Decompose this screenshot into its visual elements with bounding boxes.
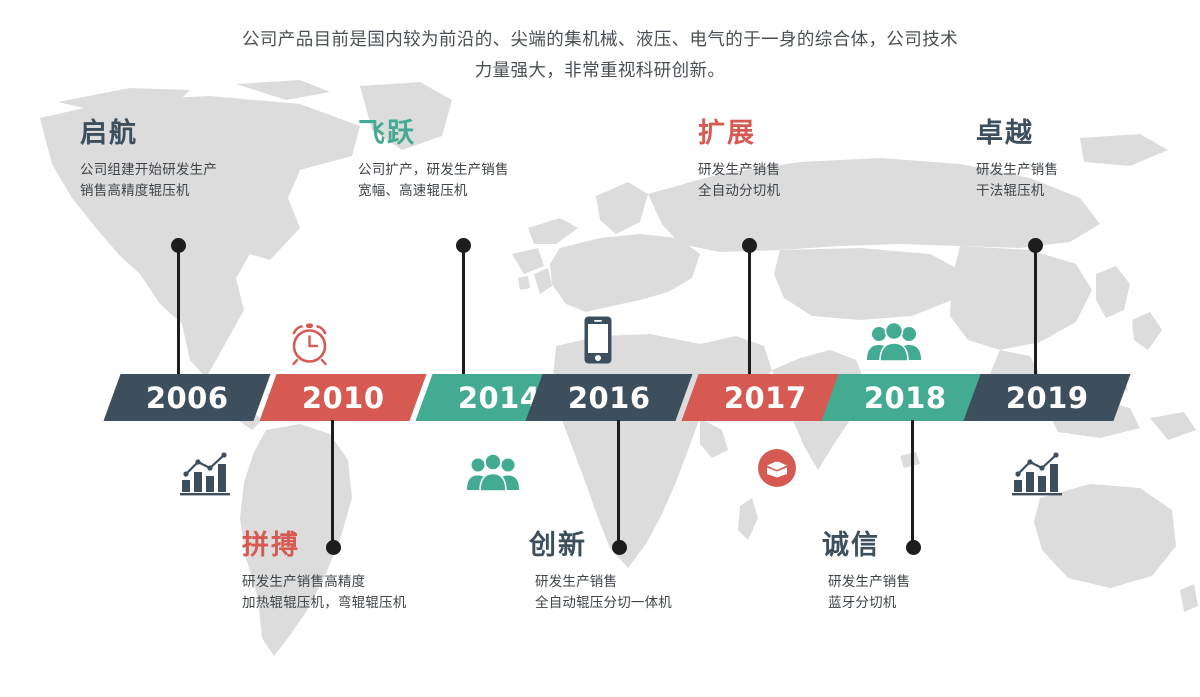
timeline-infographic-slide: 公司产品目前是国内较为前沿的、尖端的集机械、液压、电气的于一身的综合体，公司技术… [0, 0, 1200, 697]
alarm-clock-icon-wrap [287, 319, 332, 372]
desc-line-2: 干法辊压机 [976, 180, 1200, 201]
year-chip-2016[interactable]: 2016 [525, 374, 692, 421]
open-box-badge-icon [757, 448, 797, 488]
desc-line-2: 销售高精度辊压机 [80, 180, 340, 201]
desc-line-2: 蓝牙分切机 [828, 592, 1082, 613]
entry-desc-chengxin: 研发生产销售 蓝牙分切机 [822, 571, 1082, 613]
desc-line-1: 研发生产销售 [535, 571, 789, 592]
year-chip-2010[interactable]: 2010 [259, 374, 426, 421]
entry-title-qihang: 启航 [80, 116, 340, 150]
entry-2010: 拼搏 研发生产销售高精度 加热辊辊压机，弯辊辊压机 [242, 528, 502, 613]
intro-line-2: 力量强大，非常重视科研创新。 [200, 55, 1000, 86]
entry-2018: 诚信 研发生产销售 蓝牙分切机 [822, 528, 1082, 613]
timeline-year-bar: 2006 2010 2014 2016 2017 2018 2019 [104, 374, 1114, 421]
desc-line-2: 全自动分切机 [698, 180, 958, 201]
entry-desc-zhuoyue: 研发生产销售 干法辊压机 [976, 159, 1200, 201]
entry-desc-chuangxin: 研发生产销售 全自动辊压分切一体机 [529, 571, 789, 613]
year-label: 2018 [864, 381, 947, 415]
year-label: 2019 [1006, 381, 1089, 415]
entry-2014: 飞跃 公司扩产，研发生产销售 宽幅、高速辊压机 [358, 116, 618, 201]
bar-chart-growth-icon [180, 452, 232, 496]
entry-title-kuozhan: 扩展 [698, 116, 958, 150]
bar-chart-growth-icon [1012, 452, 1064, 496]
group-people-icon-wrap-bottom [466, 452, 520, 497]
year-label: 2016 [568, 381, 651, 415]
desc-line-1: 研发生产销售高精度 [242, 571, 502, 592]
alarm-clock-icon [287, 319, 332, 367]
intro-line-1: 公司产品目前是国内较为前沿的、尖端的集机械、液压、电气的于一身的综合体，公司技术 [200, 24, 1000, 55]
stem-line-2017 [748, 246, 751, 376]
year-label: 2010 [302, 381, 385, 415]
bar-chart-growth-icon-wrap-left [180, 452, 232, 501]
entry-title-chuangxin: 创新 [529, 528, 789, 562]
stem-line-2019 [1034, 246, 1037, 376]
group-people-icon-wrap-top [866, 322, 922, 367]
desc-line-1: 公司扩产，研发生产销售 [358, 159, 618, 180]
stem-line-2014 [462, 246, 465, 376]
smartphone-icon-wrap [583, 315, 613, 370]
year-label: 2017 [724, 381, 807, 415]
year-chip-2006[interactable]: 2006 [103, 374, 270, 421]
entry-title-feiyue: 飞跃 [358, 116, 618, 150]
entry-2017: 扩展 研发生产销售 全自动分切机 [698, 116, 958, 201]
entry-title-pinbo: 拼搏 [242, 528, 502, 562]
year-chip-2018[interactable]: 2018 [821, 374, 988, 421]
entry-desc-pinbo: 研发生产销售高精度 加热辊辊压机，弯辊辊压机 [242, 571, 502, 613]
entry-title-zhuoyue: 卓越 [976, 116, 1200, 150]
entry-desc-feiyue: 公司扩产，研发生产销售 宽幅、高速辊压机 [358, 159, 618, 201]
desc-line-2: 全自动辊压分切一体机 [535, 592, 789, 613]
stem-line-2006 [177, 246, 180, 376]
group-people-icon [466, 452, 520, 492]
desc-line-1: 研发生产销售 [976, 159, 1200, 180]
smartphone-icon [583, 315, 613, 365]
desc-line-1: 研发生产销售 [828, 571, 1082, 592]
desc-line-2: 宽幅、高速辊压机 [358, 180, 618, 201]
bar-chart-growth-icon-wrap-right [1012, 452, 1064, 501]
year-chip-2019[interactable]: 2019 [963, 374, 1130, 421]
year-label: 2014 [458, 381, 541, 415]
entry-2016: 创新 研发生产销售 全自动辊压分切一体机 [529, 528, 789, 613]
entry-2006: 启航 公司组建开始研发生产 销售高精度辊压机 [80, 116, 340, 201]
desc-line-2: 加热辊辊压机，弯辊辊压机 [242, 592, 502, 613]
group-people-icon [866, 322, 922, 362]
intro-paragraph: 公司产品目前是国内较为前沿的、尖端的集机械、液压、电气的于一身的综合体，公司技术… [200, 24, 1000, 86]
year-label: 2006 [146, 381, 229, 415]
open-box-badge-icon-wrap [757, 448, 797, 493]
entry-2019: 卓越 研发生产销售 干法辊压机 [976, 116, 1200, 201]
desc-line-1: 公司组建开始研发生产 [80, 159, 340, 180]
entry-title-chengxin: 诚信 [822, 528, 1082, 562]
desc-line-1: 研发生产销售 [698, 159, 958, 180]
entry-desc-qihang: 公司组建开始研发生产 销售高精度辊压机 [80, 159, 340, 201]
entry-desc-kuozhan: 研发生产销售 全自动分切机 [698, 159, 958, 201]
